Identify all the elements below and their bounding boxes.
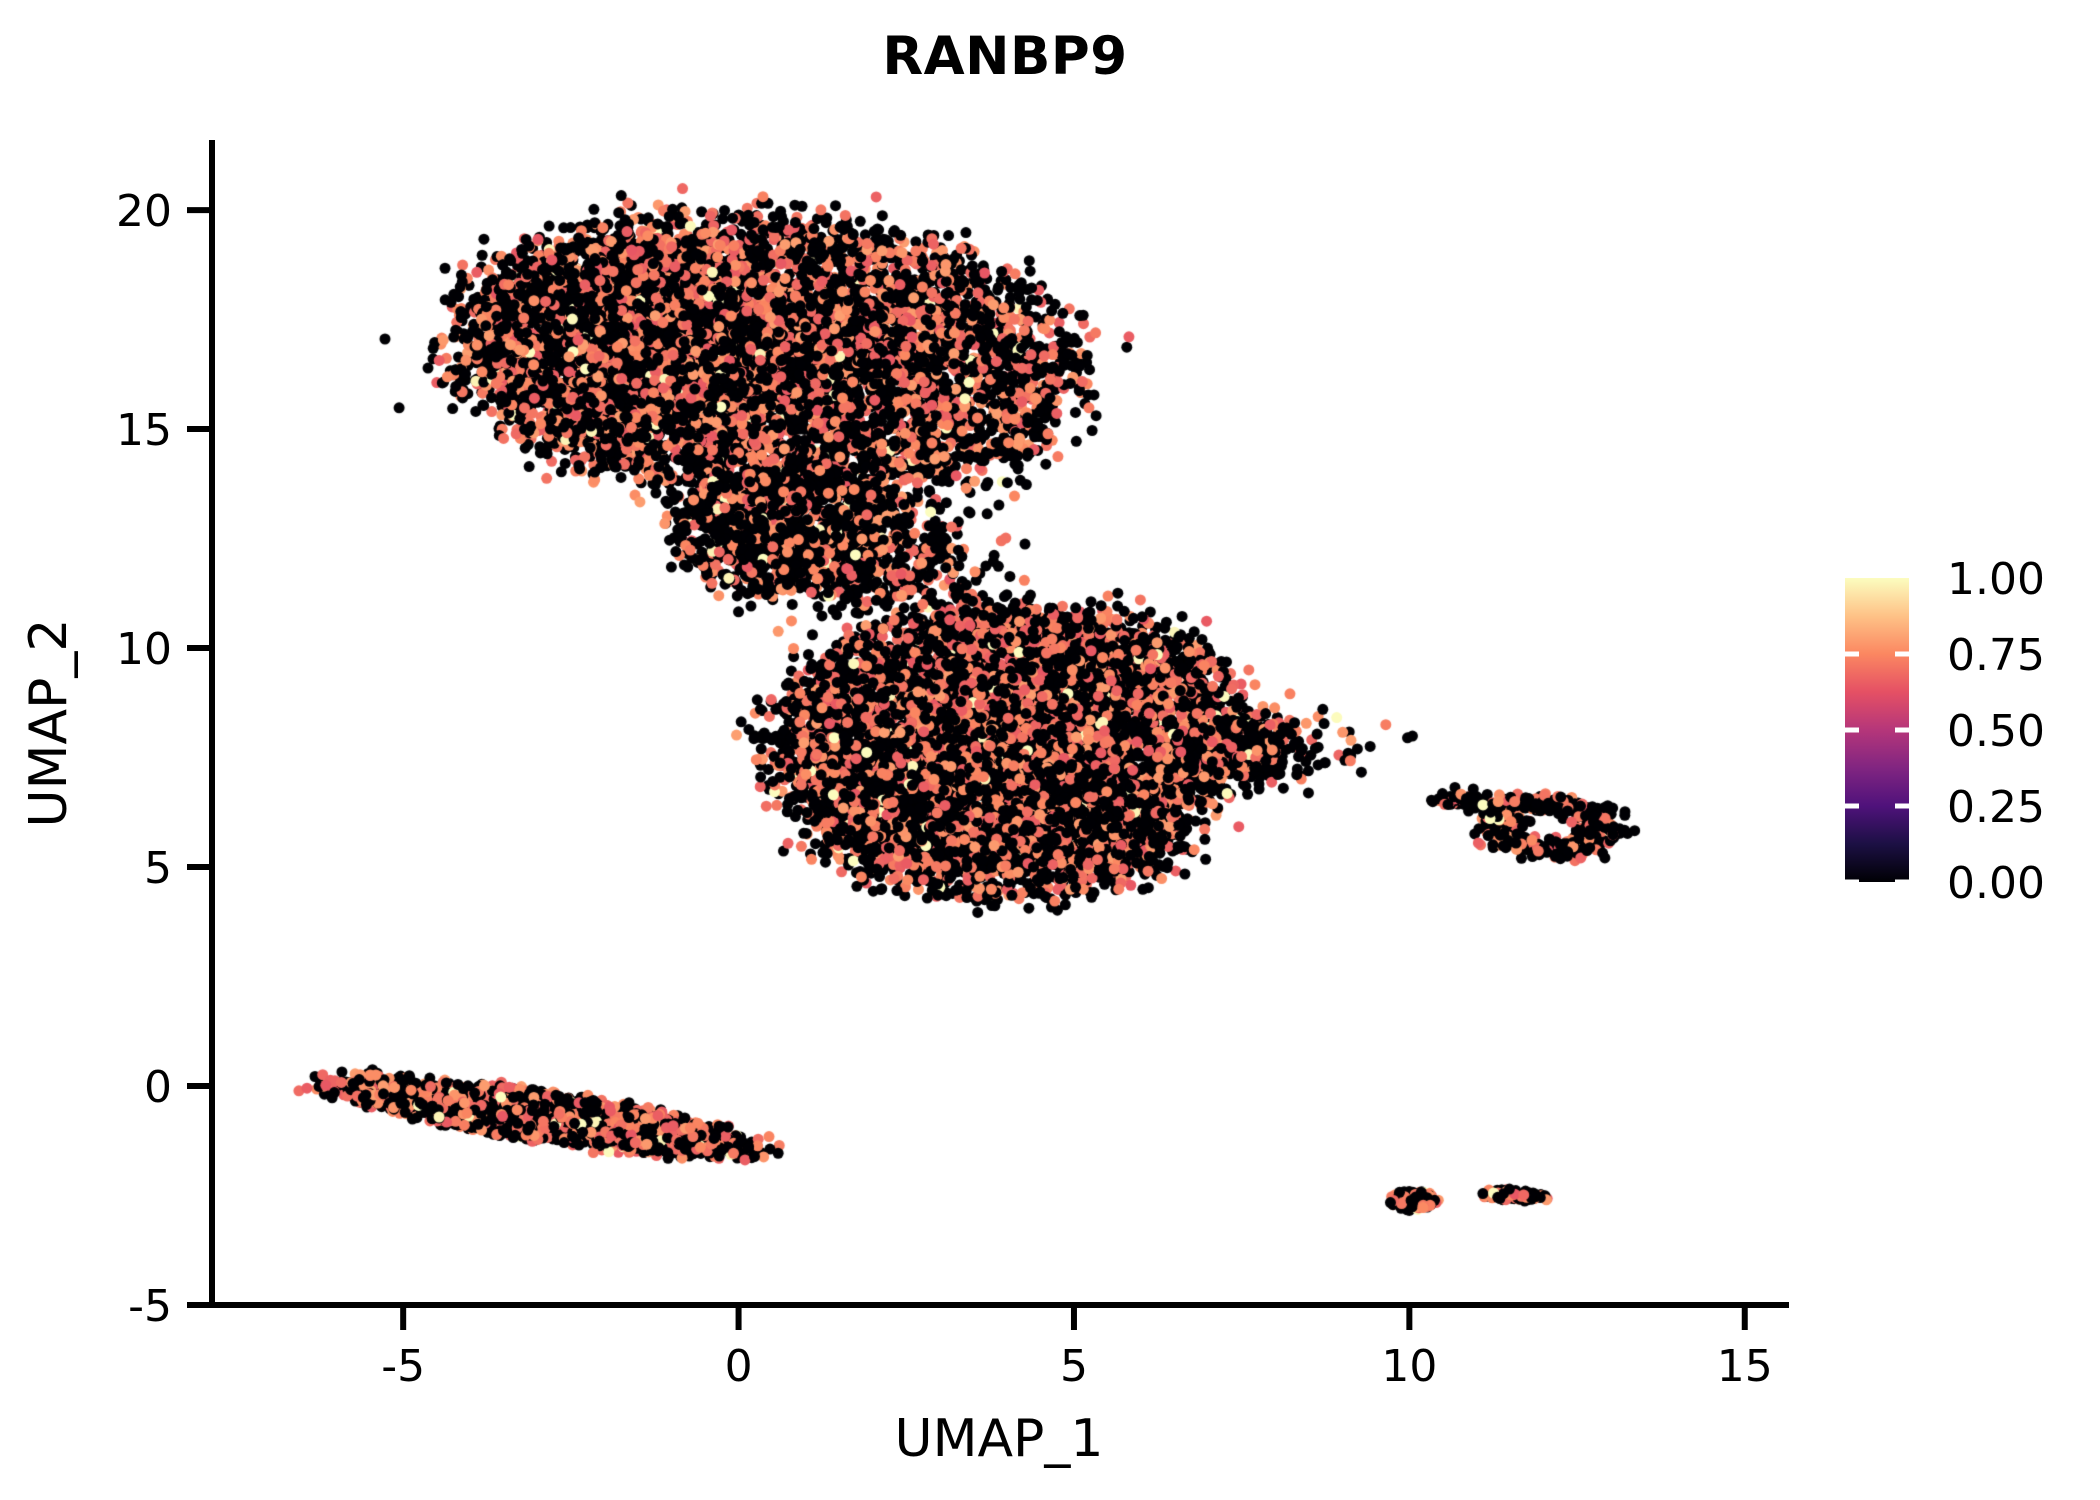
x-tick-label: 10 xyxy=(1381,1341,1437,1392)
colorbar[interactable]: 1.000.750.500.250.00 xyxy=(1845,554,2045,909)
colorbar-tick-labels: 1.000.750.500.250.00 xyxy=(1947,554,2045,909)
x-tick-label: 0 xyxy=(725,1341,753,1392)
y-axis-title: UMAP_2 xyxy=(19,619,79,828)
y-tick-label: 0 xyxy=(144,1062,172,1113)
x-tick-label: 5 xyxy=(1060,1341,1088,1392)
colorbar-tick-label: 0.75 xyxy=(1947,630,2045,681)
colorbar-tick-label: 1.00 xyxy=(1947,554,2045,605)
axis-spines xyxy=(209,140,1789,1305)
colorbar-tick-label: 0.00 xyxy=(1947,858,2045,909)
umap-feature-plot-figure: RANBP9 -5051015 -505101520 UMAP_1 UMAP_2 xyxy=(0,0,2100,1500)
colorbar-tick-label: 0.25 xyxy=(1947,782,2045,833)
y-axis-ticks: -505101520 xyxy=(116,186,212,1332)
x-axis-title: UMAP_1 xyxy=(895,1409,1104,1469)
y-tick-label: 5 xyxy=(144,843,172,894)
x-tick-label: 15 xyxy=(1717,1341,1773,1392)
y-tick-label: 20 xyxy=(116,186,172,237)
y-tick-label: 10 xyxy=(116,624,172,675)
axes-overlay: -5051015 -505101520 UMAP_1 UMAP_2 1.000.… xyxy=(0,0,2100,1500)
colorbar-tick-label: 0.50 xyxy=(1947,706,2045,757)
x-axis-ticks: -5051015 xyxy=(381,1305,1773,1392)
y-tick-label: 15 xyxy=(116,405,172,456)
x-tick-label: -5 xyxy=(381,1341,425,1392)
y-tick-label: -5 xyxy=(128,1281,172,1332)
